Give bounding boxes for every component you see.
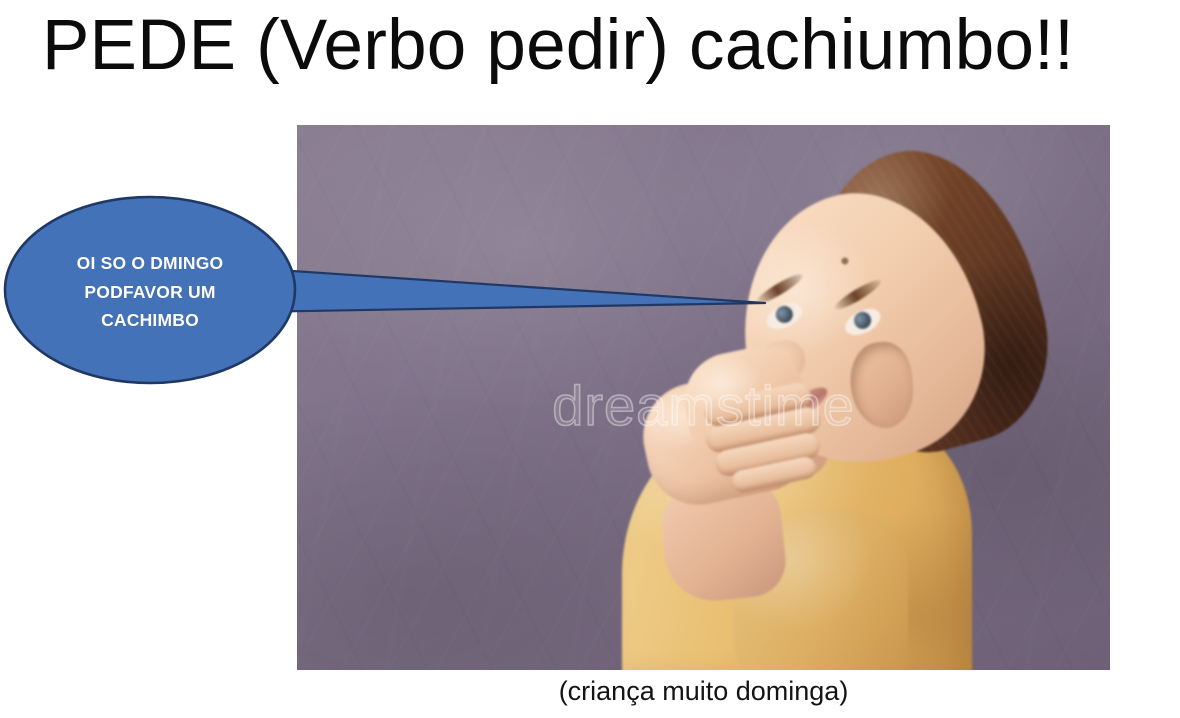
speech-bubble-line-3: CACHIMBO <box>12 306 288 335</box>
subject-mole <box>841 257 850 266</box>
subject-iris-right <box>851 309 874 332</box>
page-title: PEDE (Verbo pedir) cachiumbo!! <box>42 3 1172 89</box>
slide-canvas: PEDE (Verbo pedir) cachiumbo!! <box>0 0 1180 718</box>
photo-caption: (criança muito dominga) <box>297 674 1110 708</box>
subject-eye-right <box>841 304 885 341</box>
speech-bubble-line-2: PODFAVOR UM <box>12 278 288 307</box>
speech-bubble-text: OI SO O DMINGO PODFAVOR UM CACHIMBO <box>12 249 288 335</box>
speech-bubble-line-1: OI SO O DMINGO <box>12 249 288 278</box>
speech-bubble-tail <box>248 268 765 312</box>
subject-eyebrow-right <box>832 276 884 313</box>
